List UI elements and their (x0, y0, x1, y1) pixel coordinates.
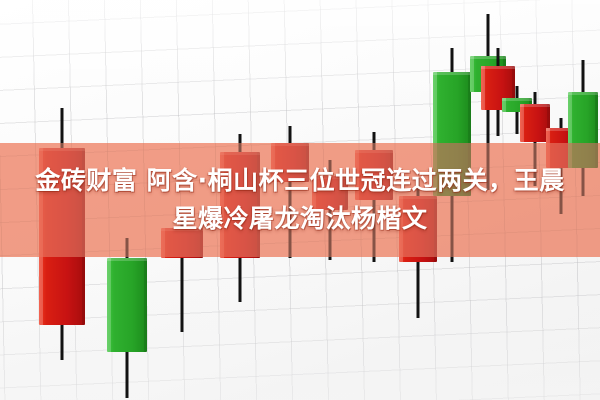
banner-image: 金砖财富 阿含·桐山杯三位世冠连过两关，王晨 星爆冷屠龙淘汰杨楷文 (0, 0, 600, 400)
headline-line-2: 星爆冷屠龙淘汰杨楷文 (172, 202, 427, 236)
headline-block: 金砖财富 阿含·桐山杯三位世冠连过两关，王晨 星爆冷屠龙淘汰杨楷文 (0, 143, 600, 257)
candlestick (107, 238, 147, 398)
candlestick-body-up (107, 258, 147, 352)
headline-line-1: 金砖财富 阿含·桐山杯三位世冠连过两关，王晨 (35, 164, 564, 198)
